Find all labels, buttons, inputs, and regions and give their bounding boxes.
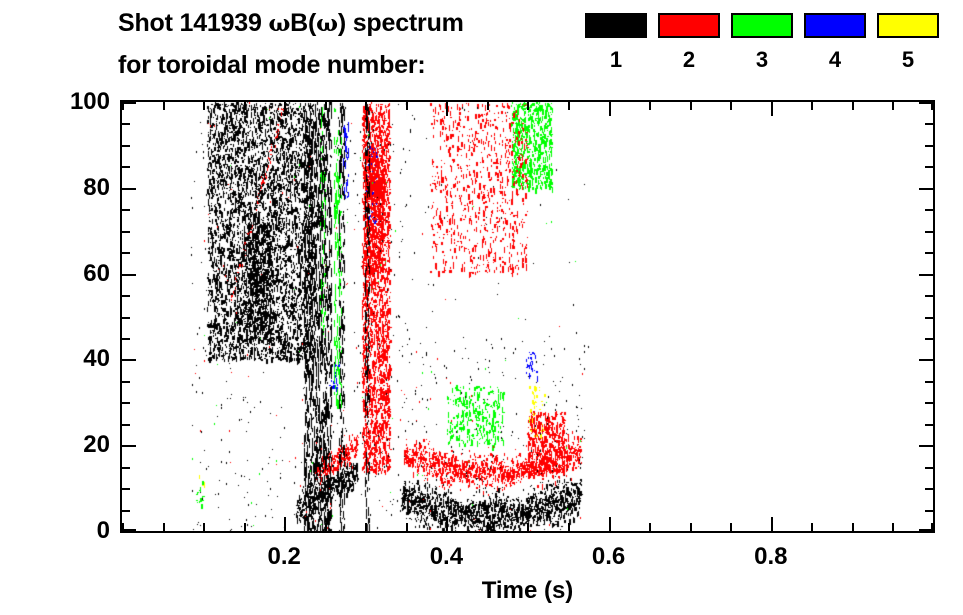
x-axis-title: Time (s) — [120, 578, 935, 604]
y-tick-80 — [919, 188, 933, 190]
y-tick-100 — [122, 102, 136, 104]
x-tick-0.80 — [771, 517, 773, 531]
y-tick-90 — [122, 145, 130, 147]
x-tick-1.00 — [931, 523, 933, 531]
x-tick-0.10 — [203, 102, 205, 110]
y-tick-15 — [925, 467, 933, 469]
x-tick-0.55 — [568, 523, 570, 531]
title-shot-text: Shot 141939 — [118, 9, 268, 37]
legend-item-mode-1: 1 — [585, 13, 647, 71]
x-tick-0.05 — [163, 523, 165, 531]
spectrogram-figure: Shot 141939 ωB(ω) spectrum for toroidal … — [0, 0, 963, 615]
y-tick-45 — [122, 338, 130, 340]
x-tick-0.90 — [852, 523, 854, 531]
y-tick-5 — [925, 510, 933, 512]
y-tick-80 — [122, 188, 136, 190]
x-tick-0.75 — [730, 102, 732, 110]
y-tick-40 — [919, 359, 933, 361]
x-tick-0.90 — [852, 102, 854, 110]
y-tick-70 — [925, 231, 933, 233]
y-tick-label-20: 20 — [50, 433, 110, 457]
y-tick-50 — [122, 317, 130, 319]
x-tick-0.00 — [122, 102, 124, 110]
x-tick-0.80 — [771, 102, 773, 116]
x-tick-0.40 — [446, 517, 448, 531]
figure-title-line-2: for toroidal mode number: — [118, 51, 426, 80]
x-tick-0.85 — [811, 102, 813, 110]
x-tick-0.35 — [406, 102, 408, 110]
x-tick-label-0.6: 0.6 — [569, 545, 649, 569]
y-tick-30 — [122, 402, 130, 404]
x-tick-0.65 — [649, 523, 651, 531]
y-tick-55 — [122, 295, 130, 297]
y-tick-25 — [925, 424, 933, 426]
y-tick-75 — [122, 209, 130, 211]
x-tick-0.65 — [649, 102, 651, 110]
x-tick-label-0.4: 0.4 — [406, 545, 486, 569]
y-tick-45 — [925, 338, 933, 340]
y-tick-70 — [122, 231, 130, 233]
x-tick-0.00 — [122, 523, 124, 531]
title-spectrum-text: ) spectrum — [338, 9, 464, 37]
y-tick-label-0: 0 — [50, 519, 110, 543]
x-tick-label-0.8: 0.8 — [731, 545, 811, 569]
x-tick-0.55 — [568, 102, 570, 110]
y-tick-60 — [122, 274, 136, 276]
y-tick-85 — [925, 166, 933, 168]
y-tick-label-80: 80 — [50, 176, 110, 200]
x-tick-0.20 — [284, 102, 286, 116]
x-tick-label-0.2: 0.2 — [244, 545, 324, 569]
title-b-text: B( — [290, 9, 316, 37]
legend-swatch-mode-1 — [585, 13, 647, 38]
y-tick-30 — [925, 402, 933, 404]
x-tick-0.15 — [244, 102, 246, 110]
y-axis-title-wrapper: Frequency (kHz) — [0, 100, 40, 533]
y-tick-50 — [925, 317, 933, 319]
figure-title-line-1: Shot 141939 ωB(ω) spectrum — [118, 9, 464, 38]
x-tick-0.10 — [203, 523, 205, 531]
x-tick-0.35 — [406, 523, 408, 531]
y-tick-55 — [925, 295, 933, 297]
y-tick-label-100: 100 — [50, 90, 110, 114]
x-tick-0.60 — [609, 102, 611, 116]
x-tick-0.45 — [487, 102, 489, 110]
x-tick-0.75 — [730, 523, 732, 531]
legend-item-mode-3: 3 — [731, 13, 793, 71]
legend-label-mode-4: 4 — [804, 49, 866, 71]
x-tick-0.25 — [325, 102, 327, 110]
y-tick-90 — [925, 145, 933, 147]
x-tick-1.00 — [931, 102, 933, 110]
y-tick-20 — [122, 445, 136, 447]
x-tick-0.20 — [284, 517, 286, 531]
x-tick-0.70 — [690, 523, 692, 531]
x-tick-0.50 — [527, 102, 529, 110]
y-tick-10 — [122, 488, 130, 490]
legend-label-mode-3: 3 — [731, 49, 793, 71]
x-tick-0.15 — [244, 523, 246, 531]
x-tick-0.30 — [365, 523, 367, 531]
y-tick-95 — [925, 123, 933, 125]
legend-item-mode-4: 4 — [804, 13, 866, 71]
y-tick-35 — [925, 381, 933, 383]
plot-area — [120, 100, 935, 533]
x-tick-0.95 — [892, 102, 894, 110]
y-tick-35 — [122, 381, 130, 383]
legend-label-mode-2: 2 — [658, 49, 720, 71]
omega-symbol-1: ω — [268, 10, 290, 37]
y-tick-75 — [925, 209, 933, 211]
y-tick-25 — [122, 424, 130, 426]
x-tick-0.25 — [325, 523, 327, 531]
x-tick-0.05 — [163, 102, 165, 110]
x-tick-0.40 — [446, 102, 448, 116]
x-tick-0.30 — [365, 102, 367, 110]
y-tick-10 — [925, 488, 933, 490]
x-tick-0.70 — [690, 102, 692, 110]
legend-item-mode-5: 5 — [877, 13, 939, 71]
x-tick-0.95 — [892, 523, 894, 531]
legend-label-mode-5: 5 — [877, 49, 939, 71]
y-axis-tick-labels: 020406080100 — [40, 0, 110, 615]
legend-swatch-mode-4 — [804, 13, 866, 38]
y-tick-label-60: 60 — [50, 262, 110, 286]
y-tick-5 — [122, 510, 130, 512]
y-tick-65 — [122, 252, 130, 254]
y-tick-65 — [925, 252, 933, 254]
legend-label-mode-1: 1 — [585, 49, 647, 71]
y-tick-95 — [122, 123, 130, 125]
x-tick-0.85 — [811, 523, 813, 531]
x-tick-0.50 — [527, 523, 529, 531]
y-tick-20 — [919, 445, 933, 447]
omega-symbol-2: ω — [316, 10, 338, 37]
y-tick-15 — [122, 467, 130, 469]
y-tick-0 — [122, 529, 136, 531]
y-tick-85 — [122, 166, 130, 168]
x-tick-0.45 — [487, 523, 489, 531]
y-tick-label-40: 40 — [50, 347, 110, 371]
spectrogram-canvas — [122, 102, 933, 531]
x-tick-0.60 — [609, 517, 611, 531]
legend: 12345 — [585, 13, 957, 85]
legend-swatch-mode-3 — [731, 13, 793, 38]
legend-swatch-mode-2 — [658, 13, 720, 38]
legend-item-mode-2: 2 — [658, 13, 720, 71]
legend-swatch-mode-5 — [877, 13, 939, 38]
y-tick-40 — [122, 359, 136, 361]
y-tick-60 — [919, 274, 933, 276]
